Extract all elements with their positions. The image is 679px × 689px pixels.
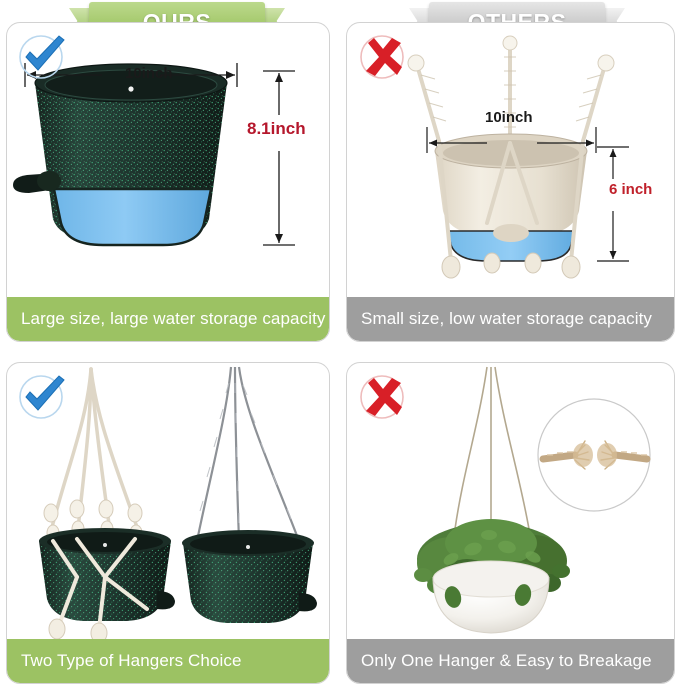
red-cross-icon [355,371,411,423]
panel-bottom-left: Two Type of Hangers Choice [6,362,330,684]
drainage-spout [157,591,175,609]
dimension-label-height: 6 inch [609,181,652,198]
caption-bottom-left: Two Type of Hangers Choice [7,639,329,683]
panel-top-right: 10inch 6 inch Small s [346,22,675,342]
frayed-rope-inset [538,399,650,511]
blue-check-icon [15,31,71,83]
panel-top-left: 10inch 8.1inch [6,22,330,342]
panel-top-left-artwork: 10inch 8.1inch [7,23,329,297]
drainage-spout [299,593,317,611]
blue-check-icon [15,371,71,423]
caption-top-left: Large size, large water storage capacity [7,297,329,341]
planter-right-body [177,530,327,637]
comparison-infographic: OURS OTHERS [0,0,679,689]
panel-bottom-left-artwork [7,363,329,639]
dimension-label-height: 8.1inch [247,119,306,139]
caption-bottom-right: Only One Hanger & Easy to Breakage [347,639,674,683]
caption-top-right: Small size, low water storage capacity [347,297,674,341]
panel-top-right-artwork: 10inch 6 inch [347,23,674,297]
metal-chain-hanger [197,367,299,541]
panel-bottom-right-artwork [347,363,674,639]
red-cross-icon [355,31,411,83]
thin-cord-hanger [455,367,529,533]
panel-bottom-right: Only One Hanger & Easy to Breakage [346,362,675,684]
